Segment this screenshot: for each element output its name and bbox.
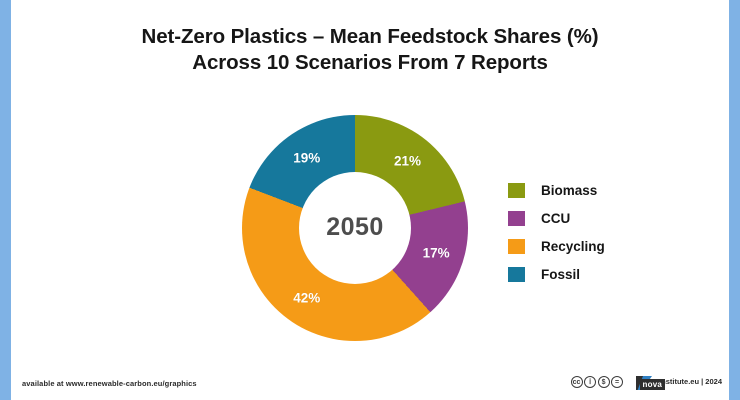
slice-label-fossil: 19% bbox=[293, 150, 320, 165]
chart-title-line-2: Across 10 Scenarios From 7 Reports bbox=[11, 50, 729, 76]
footer-institute-text: -Institute.eu | 2024 bbox=[657, 377, 722, 387]
chart-title-line-1: Net-Zero Plastics – Mean Feedstock Share… bbox=[11, 24, 729, 50]
right-accent-bar bbox=[729, 0, 740, 400]
footer-attribution: available at www.renewable-carbon.eu/gra… bbox=[22, 379, 197, 388]
legend-item-biomass[interactable]: Biomass bbox=[508, 176, 605, 204]
chart-title: Net-Zero Plastics – Mean Feedstock Share… bbox=[11, 24, 729, 76]
legend-label: Fossil bbox=[541, 267, 580, 282]
legend-item-ccu[interactable]: CCU bbox=[508, 204, 605, 232]
footer-credits: cc𝗂$= nova -Institute.eu | 2024 bbox=[571, 373, 722, 391]
slice-label-ccu: 17% bbox=[423, 246, 450, 261]
legend-swatch-icon bbox=[508, 183, 525, 198]
donut-center-label: 2050 bbox=[242, 213, 468, 242]
legend-label: Recycling bbox=[541, 239, 605, 254]
cc-nc-icon: $ bbox=[598, 376, 610, 388]
legend-swatch-icon bbox=[508, 267, 525, 282]
chart-legend: BiomassCCURecyclingFossil bbox=[508, 176, 605, 288]
legend-item-fossil[interactable]: Fossil bbox=[508, 260, 605, 288]
creative-commons-badges: cc𝗂$= bbox=[571, 376, 625, 388]
legend-swatch-icon bbox=[508, 211, 525, 226]
cc-by-icon: 𝗂 bbox=[584, 376, 596, 388]
cc-cc-icon: cc bbox=[571, 376, 583, 388]
slice-label-biomass: 21% bbox=[394, 154, 421, 169]
nova-wordmark: nova bbox=[640, 379, 665, 390]
legend-swatch-icon bbox=[508, 239, 525, 254]
legend-item-recycling[interactable]: Recycling bbox=[508, 232, 605, 260]
donut-chart: 2050 21%17%42%19% bbox=[242, 115, 468, 341]
legend-label: CCU bbox=[541, 211, 570, 226]
graphic-canvas: Net-Zero Plastics – Mean Feedstock Share… bbox=[0, 0, 740, 400]
nova-arrow-icon: nova bbox=[630, 373, 654, 391]
slice-label-recycling: 42% bbox=[293, 291, 320, 306]
legend-label: Biomass bbox=[541, 183, 597, 198]
left-accent-bar bbox=[0, 0, 11, 400]
nova-institute-logo: nova bbox=[630, 373, 654, 391]
cc-nd-icon: = bbox=[611, 376, 623, 388]
